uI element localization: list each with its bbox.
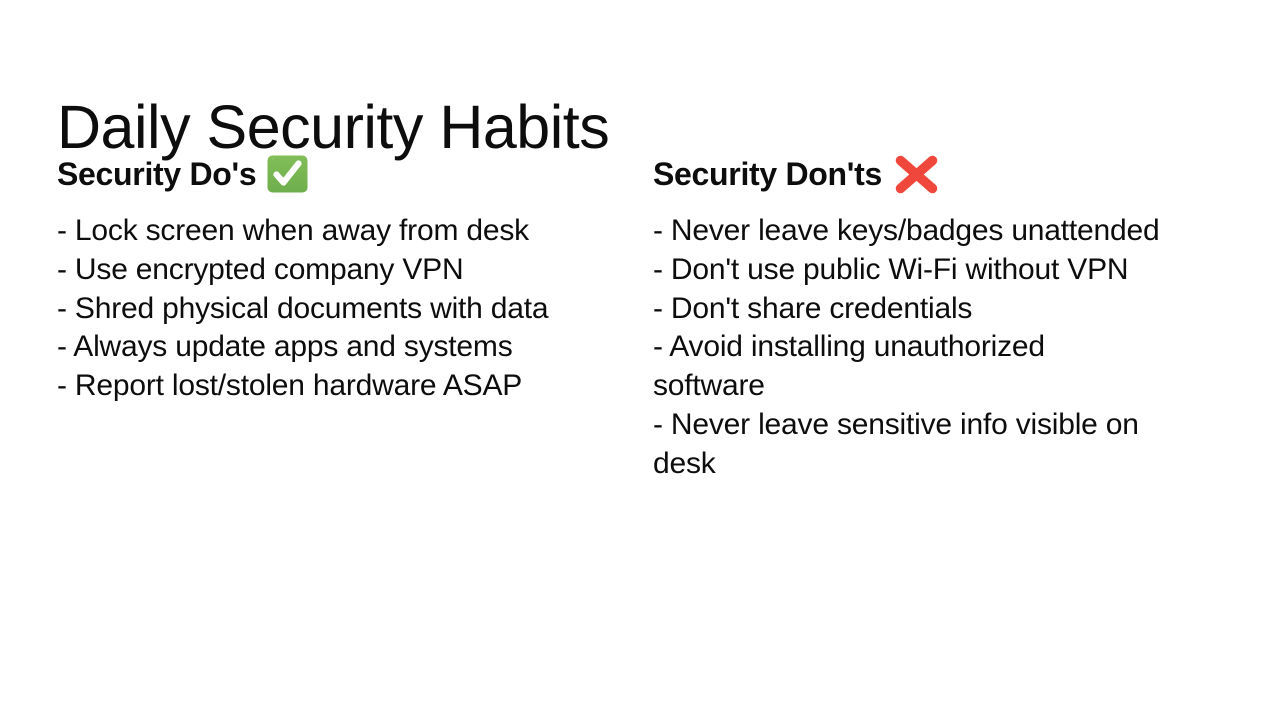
- columns-container: Security Do's - Lock screen when away fr…: [57, 152, 1227, 484]
- column-heading-dos: Security Do's: [57, 152, 567, 196]
- column-security-donts: Security Don'ts - Never leave keys/badge…: [653, 152, 1163, 484]
- security-dos-list: - Lock screen when away from desk - Use …: [57, 212, 567, 406]
- column-heading-donts-label: Security Don'ts: [653, 158, 882, 190]
- page-title: Daily Security Habits: [57, 93, 609, 161]
- column-heading-donts: Security Don'ts: [653, 152, 1163, 196]
- security-donts-list: - Never leave keys/badges unattended - D…: [653, 212, 1163, 484]
- white-check-mark-icon: [267, 155, 308, 193]
- column-heading-dos-label: Security Do's: [57, 158, 256, 190]
- column-security-dos: Security Do's - Lock screen when away fr…: [57, 152, 567, 406]
- slide: Daily Security Habits Security Do's: [0, 0, 1280, 720]
- cross-mark-icon: [893, 154, 940, 195]
